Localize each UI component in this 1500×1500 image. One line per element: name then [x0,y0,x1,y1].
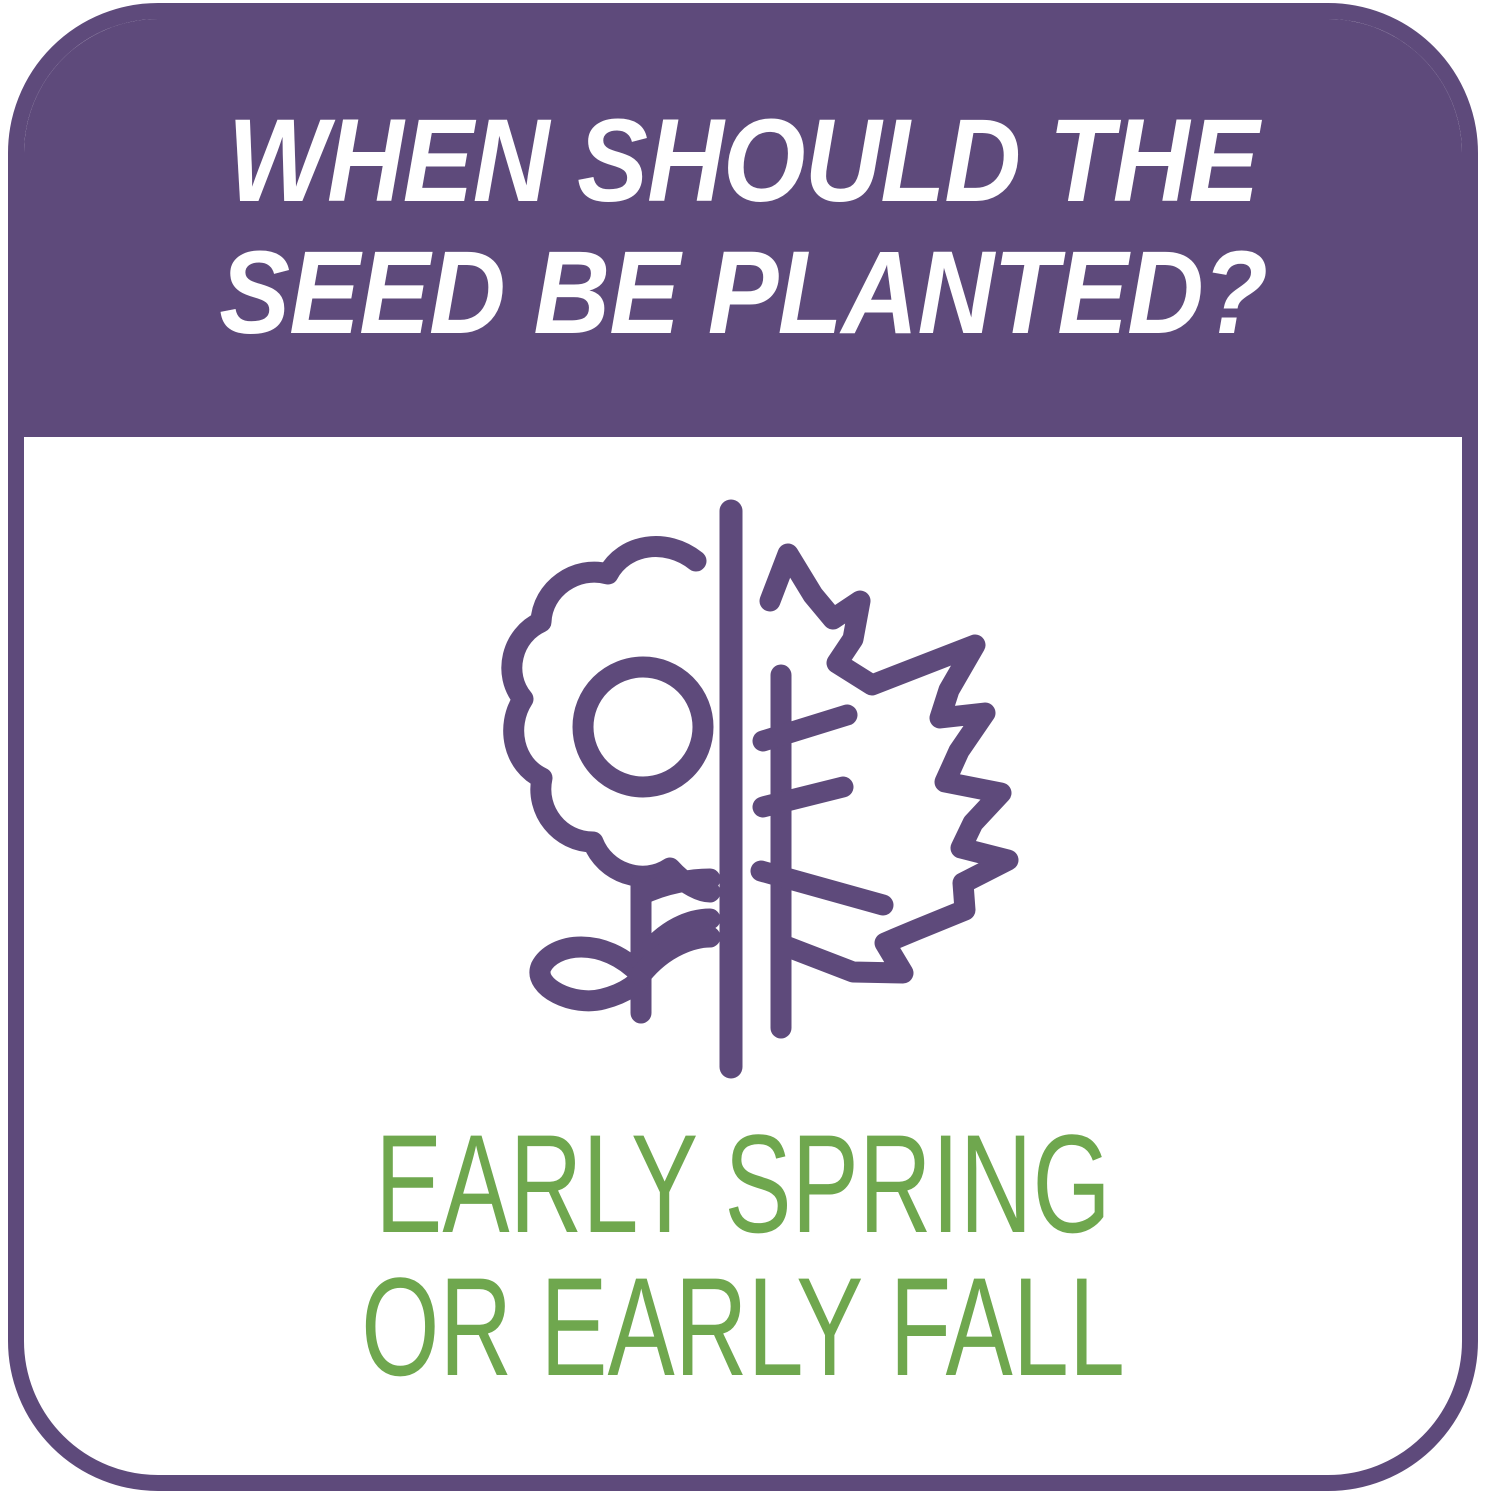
page-title-line-1: WHEN SHOULD THE [219,95,1267,227]
flower-center-circle [583,667,703,787]
info-card: WHEN SHOULD THE SEED BE PLANTED? [8,3,1478,1491]
card-body: EARLY SPRING OR EARLY FALL [24,437,1462,1475]
card-header: WHEN SHOULD THE SEED BE PLANTED? [8,3,1478,437]
page-title-line-2: SEED BE PLANTED? [219,227,1267,359]
answer-line-2: OR EARLY FALL [225,1256,1260,1399]
flower-and-maple-leaf-split-icon [413,475,1073,1095]
flower-leaf-left [540,947,641,1001]
answer-line-1: EARLY SPRING [225,1113,1260,1256]
answer-text: EARLY SPRING OR EARLY FALL [24,1113,1462,1399]
page-title: WHEN SHOULD THE SEED BE PLANTED? [219,95,1267,359]
flower-petals-path [512,547,710,892]
